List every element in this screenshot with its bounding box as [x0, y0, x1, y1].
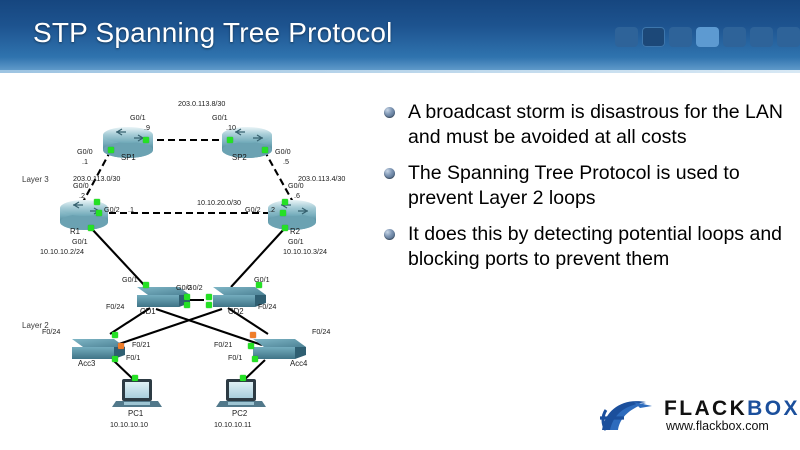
port-led-r1-g02 — [96, 210, 102, 216]
device-label-sp2: SP2 — [232, 154, 247, 162]
bullet-dot-icon — [384, 229, 395, 240]
device-label-cd1: CD1 — [140, 308, 156, 316]
host-pc1 — [112, 379, 162, 407]
device-label-sp1: SP1 — [121, 154, 136, 162]
port-led-sp1-g01 — [143, 137, 149, 143]
logo-name-blue: BOX — [747, 397, 800, 420]
subnet-label-sp1-sp2: 203.0.113.8/30 — [178, 100, 225, 108]
port-led-cd2-g02 — [206, 294, 212, 300]
iface-label-sp1-g00: G0/0 — [77, 148, 93, 156]
port-led-r2-g02 — [280, 210, 286, 216]
iface-label-cd1-g01: G0/1 — [122, 276, 138, 284]
device-label-cd2: CD2 — [228, 308, 244, 316]
iface-label-r2-g02: G0/2 — [245, 206, 261, 214]
port-led-r1-g00 — [94, 199, 100, 205]
subnet-label-sp2-r2: 203.0.113.4/30 — [298, 175, 345, 183]
router-r2 — [268, 200, 316, 230]
port-led-acc4-f021 — [248, 343, 254, 349]
port-led-acc4-f01 — [252, 356, 258, 362]
iface-label-sp1-g01: G0/1 — [130, 114, 146, 122]
device-label-r1: R1 — [70, 228, 80, 236]
iface-ip-r1-g01: 10.10.10.2/24 — [40, 248, 84, 256]
iface-ip-r1-g00: .2 — [79, 192, 85, 200]
port-led-sp2-g01 — [227, 137, 233, 143]
port-led-acc4-f024-blocked — [250, 332, 256, 338]
port-led-r1-g01 — [88, 225, 94, 231]
header-square — [750, 27, 773, 47]
iface-label-cd1-f024: F0/24 — [106, 303, 124, 311]
iface-label-acc4-f021: F0/21 — [214, 341, 232, 349]
iface-ip-r1-g02: .1 — [128, 206, 134, 214]
bullet-item: It does this by detecting potential loop… — [378, 222, 790, 272]
header-decoration — [615, 27, 800, 47]
bullet-text: It does this by detecting potential loop… — [408, 223, 782, 270]
bullet-list: A broadcast storm is disastrous for the … — [378, 100, 790, 283]
flackbox-logo-text: FLACKBOX — [664, 398, 800, 419]
iface-label-acc3-f024: F0/24 — [42, 328, 60, 336]
iface-label-cd2-g02: G0/2 — [187, 284, 203, 292]
iface-label-r1-g01: G0/1 — [72, 238, 88, 246]
iface-label-r2-g01: G0/1 — [288, 238, 304, 246]
bullet-dot-icon — [384, 168, 395, 179]
iface-label-acc4-f024: F0/24 — [312, 328, 330, 336]
iface-ip-sp2-g01: .10 — [226, 124, 236, 132]
port-led-sp2-g00 — [262, 147, 268, 153]
iface-label-acc4-f01: F0/1 — [228, 354, 242, 362]
bullet-item: A broadcast storm is disastrous for the … — [378, 100, 790, 150]
port-led-acc3-f021-blocked — [118, 343, 124, 349]
device-label-acc3: Acc3 — [78, 360, 95, 368]
topology-links — [0, 82, 372, 442]
host-ip-pc1: 10.10.10.10 — [110, 421, 148, 429]
iface-label-acc3-f01: F0/1 — [126, 354, 140, 362]
logo-name-dark: FLACK — [664, 397, 747, 420]
header-square — [615, 27, 638, 47]
host-ip-pc2: 10.10.10.11 — [214, 421, 251, 429]
iface-label-r1-g00: G0/0 — [73, 182, 89, 190]
flackbox-logo: FLACKBOX www.flackbox.com — [596, 392, 786, 438]
iface-label-cd2-g01: G0/1 — [254, 276, 270, 284]
layer3-label: Layer 3 — [22, 176, 49, 184]
iface-ip-r2-g02: .2 — [269, 206, 275, 214]
header-square — [723, 27, 746, 47]
iface-ip-sp2-g00: .5 — [283, 158, 289, 166]
device-label-pc1: PC1 — [128, 410, 143, 418]
page-title: STP Spanning Tree Protocol — [33, 17, 393, 49]
iface-ip-r2-g01: 10.10.10.3/24 — [283, 248, 327, 256]
switch-acc4 — [253, 339, 306, 359]
iface-label-r2-g00: G0/0 — [288, 182, 304, 190]
bullet-dot-icon — [384, 107, 395, 118]
iface-ip-sp1-g00: .1 — [82, 158, 88, 166]
host-pc2 — [216, 379, 266, 407]
bullet-item: The Spanning Tree Protocol is used to pr… — [378, 161, 790, 211]
slide: STP Spanning Tree Protocol A broadcast s… — [0, 0, 800, 450]
header-square — [669, 27, 692, 47]
slide-header: STP Spanning Tree Protocol — [0, 0, 800, 73]
iface-label-cd2-f024: F0/24 — [258, 303, 276, 311]
bullet-text: A broadcast storm is disastrous for the … — [408, 101, 783, 148]
device-label-acc4: Acc4 — [290, 360, 307, 368]
port-led-cd1-g01 — [143, 282, 149, 288]
iface-ip-sp1-g01: .9 — [144, 124, 150, 132]
iface-label-acc3-f021: F0/21 — [132, 341, 150, 349]
port-led-cd1-f024 — [184, 302, 190, 308]
header-square — [696, 27, 719, 47]
port-led-r2-g00 — [282, 199, 288, 205]
iface-label-sp2-g00: G0/0 — [275, 148, 291, 156]
flackbox-logo-mark-icon — [596, 396, 660, 436]
port-led-cd2-f024 — [206, 302, 212, 308]
port-led-pc2 — [240, 375, 246, 381]
port-led-pc1 — [132, 375, 138, 381]
device-label-pc2: PC2 — [232, 410, 247, 418]
port-led-acc3-f01 — [112, 356, 118, 362]
bullet-text: The Spanning Tree Protocol is used to pr… — [408, 162, 740, 209]
iface-label-r1-g02: G0/2 — [104, 206, 120, 214]
iface-ip-r2-g00: .6 — [294, 192, 300, 200]
port-led-acc3-f024 — [112, 332, 118, 338]
device-label-r2: R2 — [290, 228, 300, 236]
network-topology-diagram: Layer 3 Layer 2 203.0.113.8/30 203.0.113… — [0, 82, 372, 442]
header-square — [642, 27, 665, 47]
flackbox-logo-url: www.flackbox.com — [666, 419, 769, 433]
iface-label-sp2-g01: G0/1 — [212, 114, 228, 122]
header-square — [777, 27, 800, 47]
port-led-sp1-g00 — [108, 147, 114, 153]
port-led-r2-g01 — [282, 225, 288, 231]
subnet-label-r1-r2: 10.10.20.0/30 — [197, 199, 241, 207]
port-led-cd1-g02 — [184, 294, 190, 300]
